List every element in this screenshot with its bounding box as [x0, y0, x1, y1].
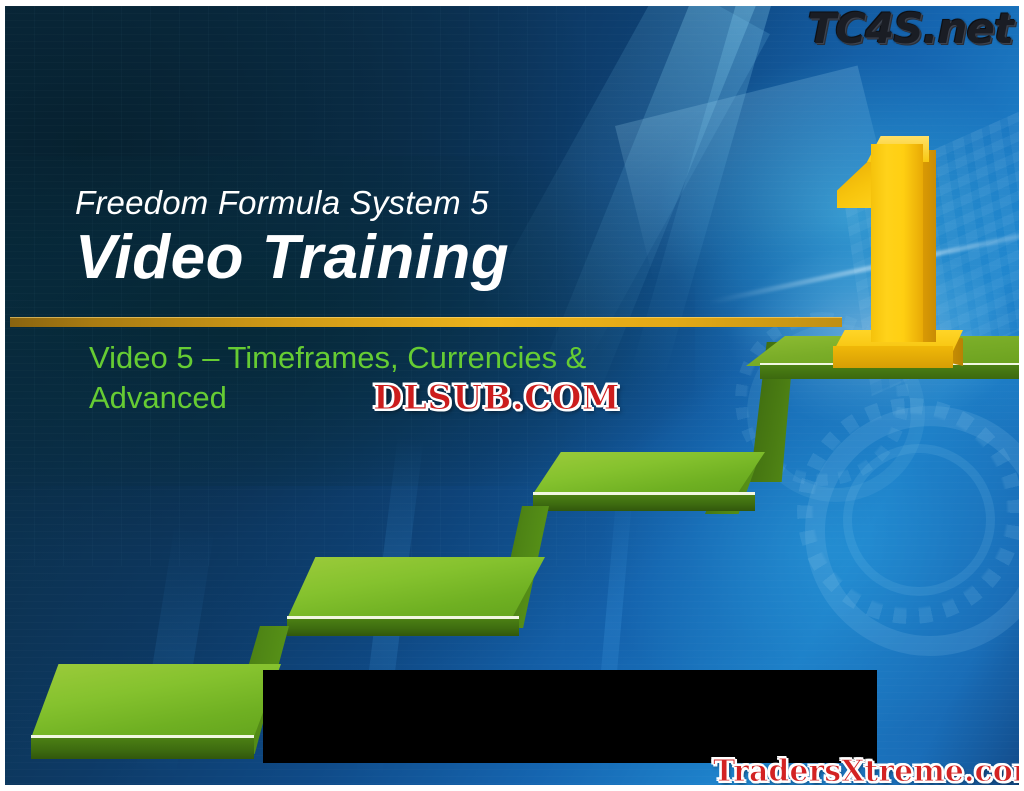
slide-root: Freedom Formula System 5 Video Training … — [0, 0, 1024, 791]
gold-divider-rule — [10, 317, 842, 327]
numeral-stem — [871, 144, 923, 342]
slide-eyebrow-text: Freedom Formula System 5 — [75, 184, 489, 222]
numeral-stem-side — [923, 150, 936, 342]
page-title: Video Training — [75, 222, 509, 293]
slide-canvas: Freedom Formula System 5 Video Training … — [5, 6, 1019, 785]
gold-numeral-one-icon — [823, 128, 973, 368]
tc4s-watermark: TC4S.net — [808, 6, 1013, 53]
black-redaction-bar — [263, 670, 877, 763]
tradersxtreme-watermark: TradersXtreme.com — [713, 754, 1019, 785]
numeral-base-front — [833, 346, 953, 368]
dlsub-watermark: DLSUB.COM — [373, 378, 620, 418]
